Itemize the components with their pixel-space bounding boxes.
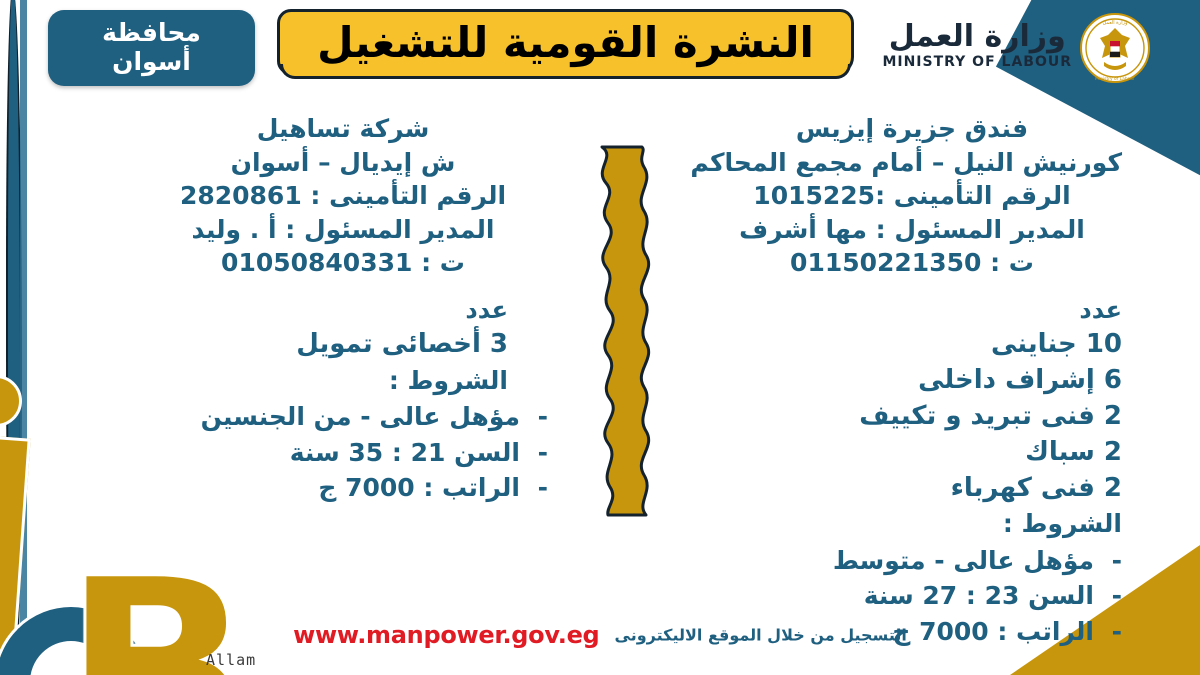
poster-title-banner: النشرة القومية للتشغيل (277, 9, 854, 75)
count-header: عدد (702, 294, 1122, 328)
jobs-block-left: عدد 3 أخصائى تمويل الشروط : (118, 294, 568, 400)
ministry-name-arabic: وزارة العمل (882, 22, 1072, 52)
bullet-dash-icon: - (1112, 543, 1122, 579)
condition-text: الراتب : 7000 ج (318, 470, 520, 506)
governorate-badge: محافظة أسوان (48, 10, 255, 86)
author-watermark: Allam (206, 651, 256, 669)
poster-footer: التسجيل من خلال الموقع الاليكترونى www.m… (0, 621, 1200, 649)
job-vacancy-item: 2 فنى كهرباء (702, 471, 1122, 507)
company-info-right: فندق جزيرة إيزيس كورنيش النيل – أمام مجم… (702, 112, 1122, 280)
egypt-eagle-emblem-icon: وزارة العمل Ministry of Labour (1078, 8, 1152, 88)
job-vacancy-item: 3 أخصائى تمويل (118, 327, 508, 363)
governorate-label-line2: أسوان (112, 48, 191, 77)
condition-item: - السن 21 : 35 سنة (118, 435, 548, 471)
bullet-dash-icon: - (538, 399, 548, 435)
svg-text:وزارة العمل: وزارة العمل (1103, 20, 1128, 26)
poster-header: محافظة أسوان النشرة القومية للتشغيل وزار… (0, 0, 1200, 105)
registration-note: التسجيل من خلال الموقع الاليكترونى (615, 626, 907, 645)
registration-url[interactable]: www.manpower.gov.eg (293, 621, 599, 649)
svg-text:Ministry of Labour: Ministry of Labour (1095, 76, 1135, 82)
company-address: كورنيش النيل – أمام مجمع المحاكم (702, 146, 1122, 180)
conditions-header: الشروط : (118, 363, 508, 399)
count-header: عدد (118, 294, 508, 328)
insurance-number: الرقم التأمينى :1015225 (702, 179, 1122, 213)
ministry-wordmark: وزارة العمل MINISTRY OF LABOUR (882, 22, 1072, 70)
condition-text: السن 23 : 27 سنة (864, 578, 1094, 614)
condition-text: مؤهل عالى - من الجنسين (201, 399, 520, 435)
job-vacancy-item: 2 سباك (702, 435, 1122, 471)
contact-phone: ت : 01050840331 (118, 246, 568, 280)
job-listing-left: شركة تساهيل ش إيديال – أسوان الرقم التأم… (118, 112, 568, 506)
condition-text: السن 21 : 35 سنة (290, 435, 520, 471)
company-info-left: شركة تساهيل ش إيديال – أسوان الرقم التأم… (118, 112, 568, 280)
condition-item: - مؤهل عالى - من الجنسين (118, 399, 548, 435)
condition-item: - الراتب : 7000 ج (118, 470, 548, 506)
bullet-dash-icon: - (538, 470, 548, 506)
company-name: شركة تساهيل (118, 112, 568, 146)
job-listing-right: فندق جزيرة إيزيس كورنيش النيل – أمام مجم… (702, 112, 1122, 649)
insurance-number: الرقم التأمينى : 2820861 (118, 179, 568, 213)
jobs-block-right: عدد 10 جناينى 6 إشراف داخلى 2 فنى تبريد … (702, 294, 1122, 543)
responsible-manager: المدير المسئول : أ . وليد (118, 213, 568, 247)
job-vacancy-item: 10 جناينى (702, 327, 1122, 363)
condition-text: مؤهل عالى - متوسط (833, 543, 1094, 579)
poster-canvas: B Allam محافظة أسوان النشرة القومية للتش… (0, 0, 1200, 675)
conditions-header: الشروط : (702, 506, 1122, 542)
governorate-label-line1: محافظة (102, 19, 201, 48)
bullet-dash-icon: - (538, 435, 548, 471)
company-address: ش إيديال – أسوان (118, 146, 568, 180)
page-title: النشرة القومية للتشغيل (317, 18, 814, 67)
contact-phone: ت : 01150221350 (702, 246, 1122, 280)
job-vacancy-item: 6 إشراف داخلى (702, 363, 1122, 399)
condition-item: - السن 23 : 27 سنة (702, 578, 1122, 614)
company-name: فندق جزيرة إيزيس (702, 112, 1122, 146)
conditions-list-left: - مؤهل عالى - من الجنسين - السن 21 : 35 … (118, 399, 568, 506)
center-wavy-divider (580, 143, 670, 518)
bullet-dash-icon: - (1112, 578, 1122, 614)
responsible-manager: المدير المسئول : مها أشرف (702, 213, 1122, 247)
condition-item: - مؤهل عالى - متوسط (702, 543, 1122, 579)
ministry-name-english: MINISTRY OF LABOUR (882, 54, 1072, 70)
job-vacancy-item: 2 فنى تبريد و تكييف (702, 399, 1122, 435)
